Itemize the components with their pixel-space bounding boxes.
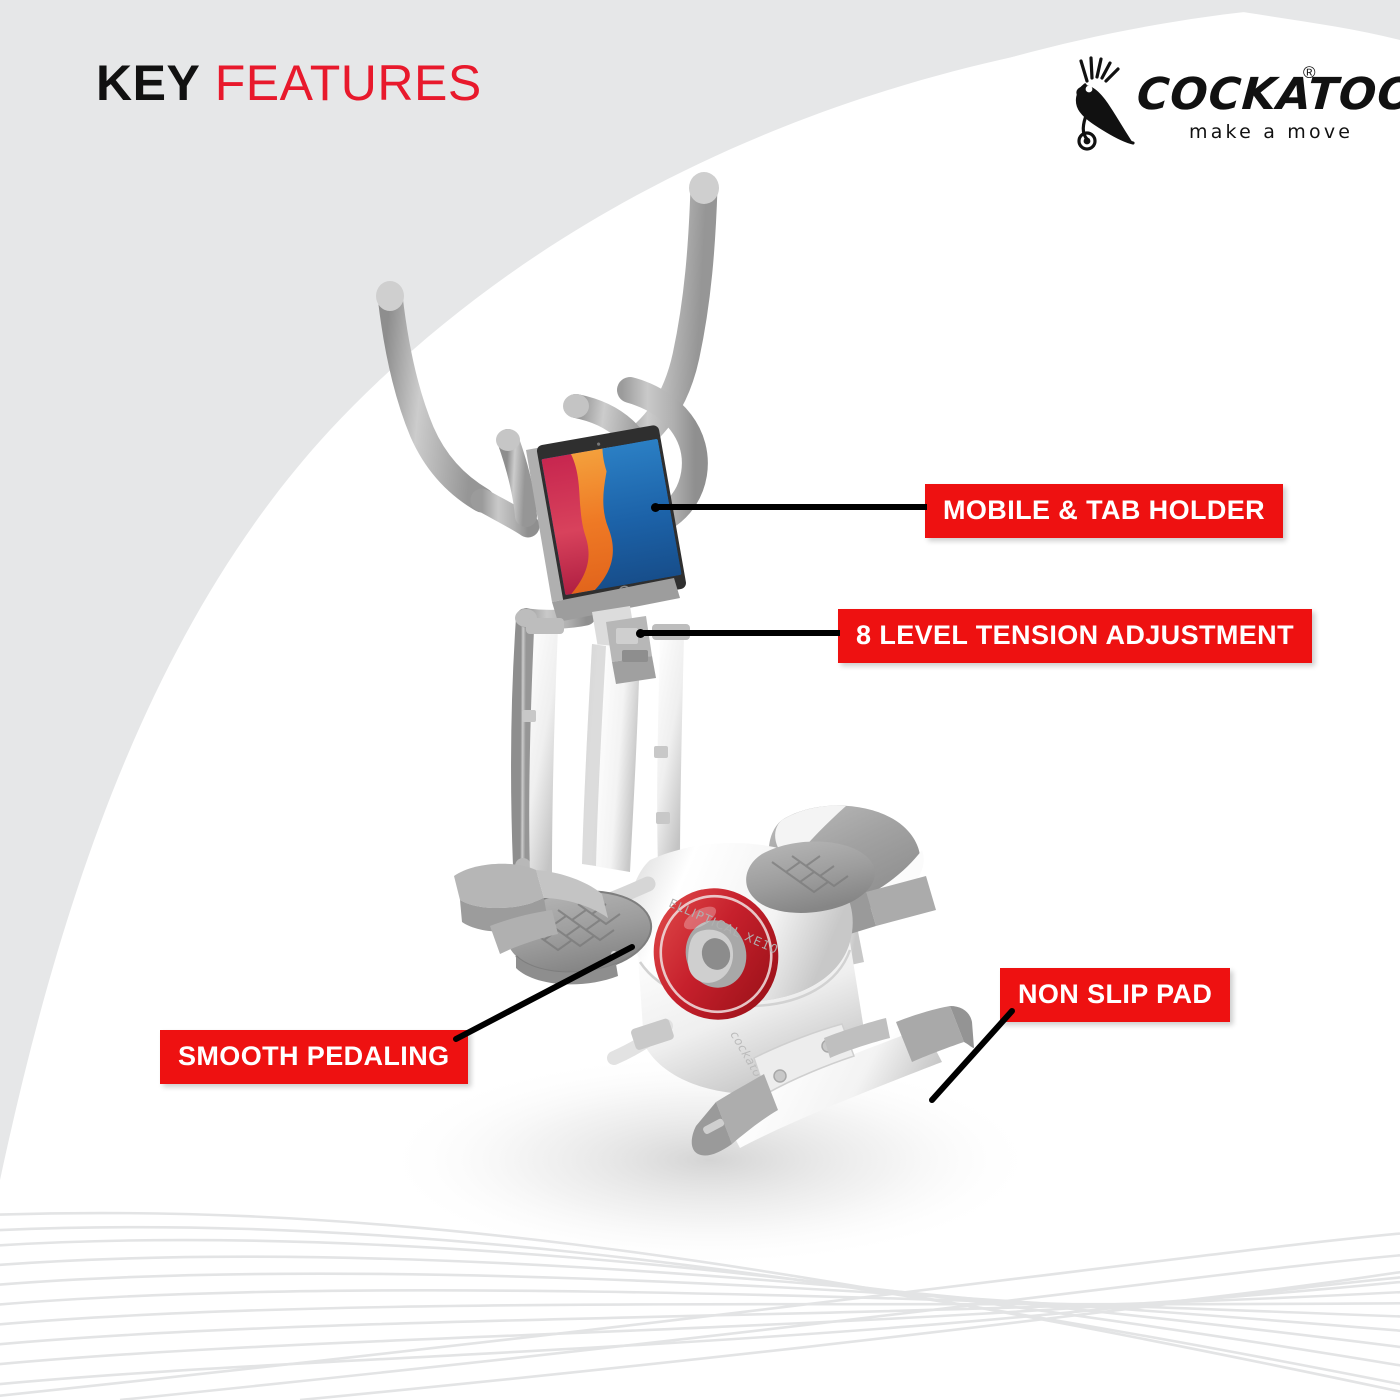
infographic-canvas: KEY FEATURES (0, 0, 1400, 1400)
registered-trademark-icon: ® (1303, 63, 1316, 83)
leader-dot-tension-adjustment (636, 629, 645, 638)
cockatoo-bird-icon (1065, 55, 1145, 155)
brand-logo: COCKATOO ® make a move (1065, 55, 1325, 160)
header: KEY FEATURES (0, 0, 1400, 190)
leader-line-smooth-pedaling (440, 935, 650, 1050)
leader-dot-mobile-tab-holder (651, 503, 660, 512)
leader-line-non-slip-pad (920, 1005, 1020, 1110)
logo-tagline: make a move (1189, 121, 1353, 143)
leader-line-tension-adjustment (640, 630, 840, 636)
title-word-features: FEATURES (215, 55, 482, 111)
leader-line-mobile-tab-holder (655, 504, 927, 510)
page-title: KEY FEATURES (96, 58, 482, 108)
title-word-key: KEY (96, 55, 200, 111)
logo-brand-text: COCKATOO (1135, 69, 1400, 120)
product-image-elliptical-trainer: ELLIPTICAL XE10 cockatoo (330, 150, 1050, 1280)
